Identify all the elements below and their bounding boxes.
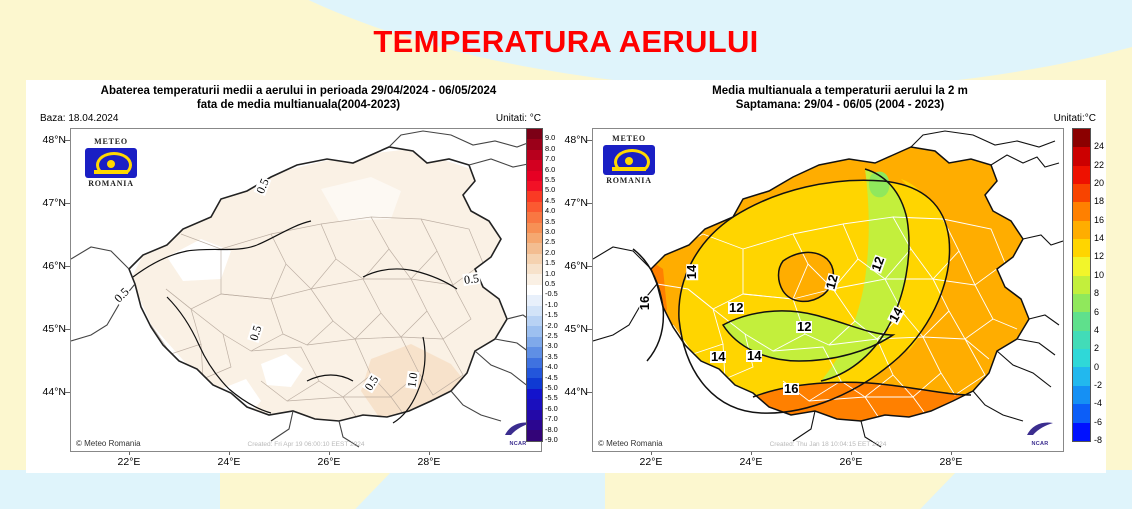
colorbar-tick-label: 2.0 (545, 248, 555, 257)
right-contour-label-2: 12 (728, 302, 744, 314)
colorbar-tick-label: -0.5 (545, 289, 558, 298)
colorbar-tick-label: -2.5 (545, 331, 558, 340)
colorbar-tick-label: -2.0 (545, 321, 558, 330)
background-triangle-d (900, 470, 958, 509)
colorbar-tick-label: 2.5 (545, 237, 555, 246)
colorbar-tick-label: 5.0 (545, 185, 555, 194)
colorbar-swatch (1073, 221, 1090, 239)
colorbar-swatch (527, 389, 542, 399)
colorbar-tick-label: 9.0 (545, 133, 555, 142)
colorbar-tick-label: 10 (1094, 270, 1104, 280)
colorbar-tick-label: -5.0 (545, 383, 558, 392)
colorbar-tick-label: 8.0 (545, 144, 555, 153)
colorbar-tick-label: 4 (1094, 325, 1099, 335)
left-units-label: Unitati: °C (496, 113, 541, 124)
right-colorbar[interactable]: 242220181614121086420-2-4-6-8 (1072, 128, 1112, 446)
background-triangle-c (545, 470, 605, 509)
left-lon-24: 24°E (206, 456, 252, 468)
colorbar-swatch (1073, 276, 1090, 294)
colorbar-swatch (527, 337, 542, 347)
colorbar-swatch (527, 399, 542, 409)
colorbar-swatch (527, 212, 542, 222)
right-contour-label-7: 14 (746, 350, 762, 362)
left-lat-47: 47°N (28, 197, 66, 209)
colorbar-swatch (527, 129, 542, 139)
colorbar-tick-label: 6 (1094, 307, 1099, 317)
colorbar-tick-label: -1.0 (545, 300, 558, 309)
right-map-svg (593, 129, 1063, 451)
colorbar-tick-label: 8 (1094, 288, 1099, 298)
colorbar-swatch (1073, 202, 1090, 220)
right-contour-label-1: 14 (686, 264, 698, 280)
colorbar-tick-label: 3.0 (545, 227, 555, 236)
colorbar-swatch (1073, 294, 1090, 312)
left-figure-title-line2: fata de media multianuala(2004-2023) (34, 98, 563, 112)
meteo-logo-bottom-text-left: ROMANIA (81, 179, 141, 189)
colorbar-swatch (527, 202, 542, 212)
figures-panel: Abaterea temperaturii medii a aerului in… (26, 80, 1106, 473)
colorbar-swatch (527, 358, 542, 368)
left-map-created: Created: Fri Apr 19 06:00:10 EEST 2024 (248, 441, 365, 448)
colorbar-swatch (527, 274, 542, 284)
left-baza-label: Baza: 18.04.2024 (40, 113, 118, 124)
colorbar-tick-label: 0.5 (545, 279, 555, 288)
colorbar-swatch (527, 171, 542, 181)
colorbar-tick-label: -9.0 (545, 435, 558, 444)
colorbar-swatch (527, 295, 542, 305)
right-lon-26: 26°E (828, 456, 874, 468)
colorbar-swatch (1073, 147, 1090, 165)
meteo-badge-icon-left (85, 148, 137, 178)
colorbar-swatch (1073, 423, 1090, 441)
colorbar-tick-label: 6.0 (545, 165, 555, 174)
colorbar-swatch (527, 316, 542, 326)
colorbar-tick-label: 7.0 (545, 154, 555, 163)
right-figure-title-line2: Saptamana: 29/04 - 06/05 (2004 - 2023) (582, 98, 1098, 112)
colorbar-tick-label: 14 (1094, 233, 1104, 243)
colorbar-swatch (527, 181, 542, 191)
right-figure-title: Media multianuala a temperaturii aerului… (574, 84, 1106, 112)
colorbar-tick-label: 20 (1094, 178, 1104, 188)
left-figure-title: Abaterea temperaturii medii a aerului in… (26, 84, 571, 112)
meteo-romania-logo-right: METEO ROMANIA (599, 134, 659, 186)
background-band-bottom-right (955, 470, 1132, 509)
left-map-svg (71, 129, 541, 451)
colorbar-tick-label: -3.0 (545, 341, 558, 350)
colorbar-swatch (527, 285, 542, 295)
colorbar-tick-label: -7.0 (545, 414, 558, 423)
colorbar-tick-label: -6.0 (545, 404, 558, 413)
figure-temperature-anomaly: Abaterea temperaturii medii a aerului in… (26, 80, 571, 473)
colorbar-tick-label: 22 (1094, 160, 1104, 170)
colorbar-tick-label: -4.0 (545, 362, 558, 371)
colorbar-swatch (1073, 367, 1090, 385)
colorbar-swatch (527, 223, 542, 233)
colorbar-swatch (527, 420, 542, 430)
colorbar-tick-label: -1.5 (545, 310, 558, 319)
colorbar-swatch (527, 160, 542, 170)
left-lat-48: 48°N (28, 134, 66, 146)
colorbar-swatch (527, 139, 542, 149)
colorbar-swatch (527, 306, 542, 316)
colorbar-tick-label: 4.5 (545, 196, 555, 205)
colorbar-tick-label: 0 (1094, 362, 1099, 372)
right-contour-label-4: 12 (796, 321, 812, 333)
meteo-romania-logo-left: METEO ROMANIA (81, 137, 141, 189)
colorbar-tick-label: -6 (1094, 417, 1102, 427)
right-lon-22: 22°E (628, 456, 674, 468)
colorbar-tick-label: -3.5 (545, 352, 558, 361)
right-map-credit: © Meteo Romania (598, 439, 663, 448)
colorbar-tick-label: 1.0 (545, 269, 555, 278)
left-colorbar-strip (526, 128, 543, 442)
colorbar-tick-label: -4.5 (545, 373, 558, 382)
colorbar-swatch (527, 326, 542, 336)
colorbar-swatch (1073, 404, 1090, 422)
colorbar-tick-label: 4.0 (545, 206, 555, 215)
colorbar-swatch (1073, 129, 1090, 147)
left-figure-title-line1: Abaterea temperaturii medii a aerului in… (34, 84, 563, 98)
left-contour-label-5: 1.0 (405, 371, 419, 390)
colorbar-swatch (1073, 349, 1090, 367)
colorbar-swatch (527, 243, 542, 253)
colorbar-swatch (1073, 331, 1090, 349)
colorbar-swatch (527, 264, 542, 274)
colorbar-tick-label: 16 (1094, 215, 1104, 225)
page-title: TEMPERATURA AERULUI (0, 24, 1132, 60)
left-lat-46: 46°N (28, 260, 66, 272)
colorbar-tick-label: -5.5 (545, 393, 558, 402)
right-map-canvas[interactable]: 16 14 12 12 12 12 14 14 14 16 METEO ROMA… (592, 128, 1064, 452)
right-figure-title-line1: Media multianuala a temperaturii aerului… (582, 84, 1098, 98)
background-triangle-e (1115, 470, 1132, 509)
ncar-swoosh-icon-right (1026, 422, 1054, 436)
right-contour-label-9: 16 (783, 383, 799, 395)
colorbar-swatch (1073, 386, 1090, 404)
ncar-logo-right: NCAR (1023, 422, 1057, 447)
right-contour-label-6: 14 (710, 351, 726, 363)
colorbar-tick-label: -8.0 (545, 425, 558, 434)
colorbar-tick-label: 2 (1094, 343, 1099, 353)
background-triangle-a (160, 470, 220, 509)
right-lon-24: 24°E (728, 456, 774, 468)
colorbar-tick-label: 18 (1094, 196, 1104, 206)
left-lon-26: 26°E (306, 456, 352, 468)
colorbar-swatch (527, 233, 542, 243)
colorbar-swatch (1073, 239, 1090, 257)
colorbar-swatch (527, 430, 542, 440)
colorbar-swatch (527, 254, 542, 264)
colorbar-tick-label: 1.5 (545, 258, 555, 267)
left-lat-44: 44°N (28, 386, 66, 398)
left-contour-label-3: 0.5 (462, 272, 481, 286)
colorbar-tick-label: -8 (1094, 435, 1102, 445)
colorbar-swatch (1073, 312, 1090, 330)
colorbar-tick-label: -2 (1094, 380, 1102, 390)
colorbar-swatch (527, 378, 542, 388)
meteo-logo-bottom-text-right: ROMANIA (599, 176, 659, 186)
colorbar-swatch (527, 150, 542, 160)
colorbar-swatch (1073, 184, 1090, 202)
colorbar-tick-label: -4 (1094, 398, 1102, 408)
background-triangle-b (335, 470, 393, 509)
colorbar-swatch (1073, 257, 1090, 275)
colorbar-swatch (527, 368, 542, 378)
colorbar-swatch (527, 191, 542, 201)
right-contour-label-0: 16 (639, 295, 651, 311)
figure-climatology-mean: Media multianuala a temperaturii aerului… (574, 80, 1106, 473)
right-map-created: Created: Thu Jan 18 10:04:15 EET 2024 (770, 441, 887, 448)
left-map-credit: © Meteo Romania (76, 439, 141, 448)
meteo-badge-icon-right (603, 145, 655, 175)
colorbar-swatch (527, 347, 542, 357)
left-colorbar[interactable]: 9.08.07.06.05.55.04.54.03.53.02.52.01.51… (526, 128, 572, 446)
right-lon-28: 28°E (928, 456, 974, 468)
ncar-label-right: NCAR (1023, 441, 1057, 447)
colorbar-tick-label: 24 (1094, 141, 1104, 151)
left-lon-28: 28°E (406, 456, 452, 468)
colorbar-swatch (1073, 166, 1090, 184)
right-units-label: Unitati:°C (1054, 113, 1096, 124)
meteo-logo-top-text-right: METEO (599, 134, 659, 144)
left-map-canvas[interactable]: 0.5 0.5 0.5 0.5 0.5 1.0 METEO ROMANIA (70, 128, 542, 452)
colorbar-tick-label: 12 (1094, 251, 1104, 261)
right-colorbar-strip (1072, 128, 1091, 442)
colorbar-swatch (527, 410, 542, 420)
colorbar-tick-label: 5.5 (545, 175, 555, 184)
meteo-logo-top-text-left: METEO (81, 137, 141, 147)
colorbar-tick-label: 3.5 (545, 217, 555, 226)
left-lat-45: 45°N (28, 323, 66, 335)
left-lon-22: 22°E (106, 456, 152, 468)
